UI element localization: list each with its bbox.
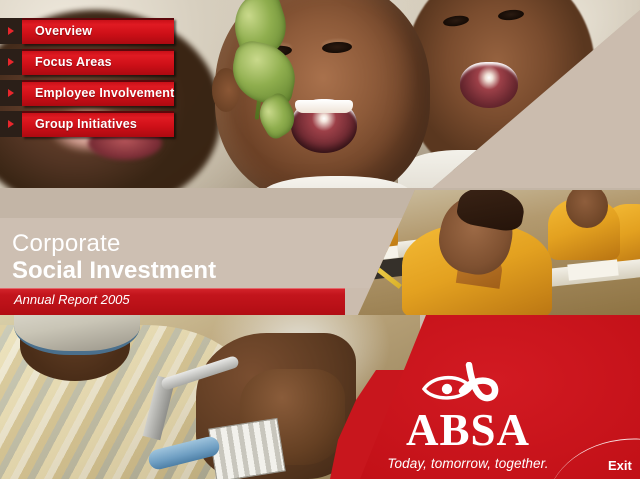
child-center-teeth	[295, 100, 353, 113]
nav-item-employee-involvement-label: Employee Involvement	[22, 86, 174, 100]
metal-workpiece	[208, 418, 286, 479]
page-title-line1: Corporate	[12, 230, 342, 257]
page-title-line2: Social Investment	[12, 257, 342, 285]
triangle-right-icon	[0, 18, 22, 44]
application-window: Corporate Social Investment Annual Repor…	[0, 0, 640, 479]
nav-item-overview[interactable]: Overview	[0, 18, 174, 44]
nav-item-group-initiatives-plate[interactable]: Group Initiatives	[22, 111, 174, 137]
nav-item-overview-plate[interactable]: Overview	[22, 18, 174, 44]
triangle-right-icon	[0, 49, 22, 75]
triangle-right-icon	[0, 111, 22, 137]
nav-item-group-initiatives[interactable]: Group Initiatives	[0, 111, 174, 137]
nav-item-group-initiatives-label: Group Initiatives	[22, 117, 137, 131]
child-right-collar	[398, 150, 548, 190]
nav-item-overview-label: Overview	[22, 24, 92, 38]
main-navigation: Overview Focus Areas Employee Involvemen…	[0, 18, 180, 142]
nav-item-employee-involvement[interactable]: Employee Involvement	[0, 80, 174, 106]
nav-item-focus-areas-plate[interactable]: Focus Areas	[22, 49, 174, 75]
page-title: Corporate Social Investment	[12, 230, 342, 285]
child-right-mouth	[460, 62, 518, 108]
nav-item-focus-areas[interactable]: Focus Areas	[0, 49, 174, 75]
nav-item-employee-involvement-plate[interactable]: Employee Involvement	[22, 80, 174, 106]
woman-working-with-tools-photo	[0, 315, 420, 479]
triangle-right-icon	[0, 80, 22, 106]
exit-button[interactable]: Exit	[608, 458, 632, 473]
nav-item-focus-areas-label: Focus Areas	[22, 55, 112, 69]
report-subtitle: Annual Report 2005	[14, 292, 130, 307]
